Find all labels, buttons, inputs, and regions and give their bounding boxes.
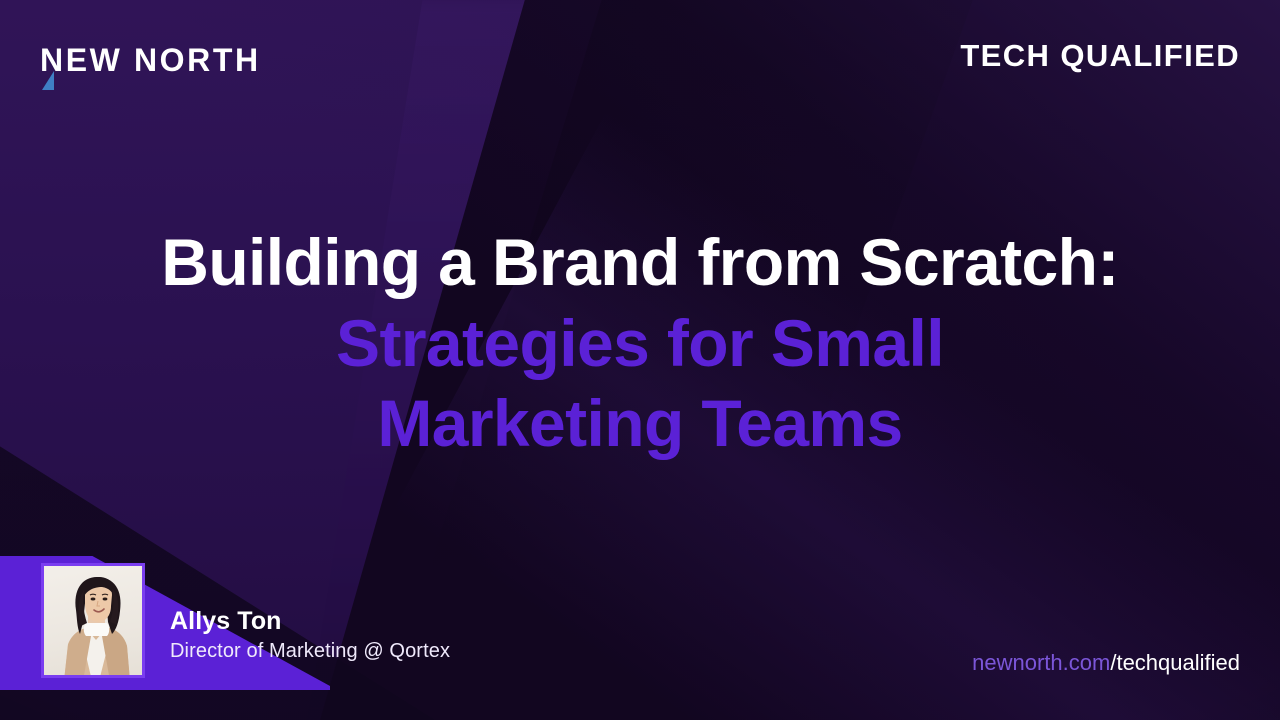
new-north-logo: NEW NORTH: [40, 40, 261, 80]
title-line-3: Marketing Teams: [70, 383, 1210, 464]
avatar-portrait-illustration: [44, 566, 145, 678]
speaker-name: Allys Ton: [170, 608, 450, 636]
footer-url-domain: newnorth.com: [972, 650, 1110, 675]
footer-url[interactable]: newnorth.com/techqualified: [972, 652, 1240, 674]
new-north-logo-text: NEW NORTH: [40, 44, 261, 76]
slide-title-block: Building a Brand from Scratch: Strategie…: [0, 222, 1280, 464]
footer-url-path: /techqualified: [1110, 650, 1240, 675]
title-line-1: Building a Brand from Scratch:: [70, 222, 1210, 303]
speaker-role: Director of Marketing @ Qortex: [170, 639, 450, 663]
speaker-info: Allys Ton Director of Marketing @ Qortex: [170, 608, 450, 663]
speaker-avatar: [41, 563, 145, 678]
tech-qualified-logo: TECH QUALIFIED: [960, 40, 1240, 71]
webinar-title-slide: NEW NORTH TECH QUALIFIED Building a Bran…: [0, 0, 1280, 720]
title-line-2: Strategies for Small: [70, 303, 1210, 384]
